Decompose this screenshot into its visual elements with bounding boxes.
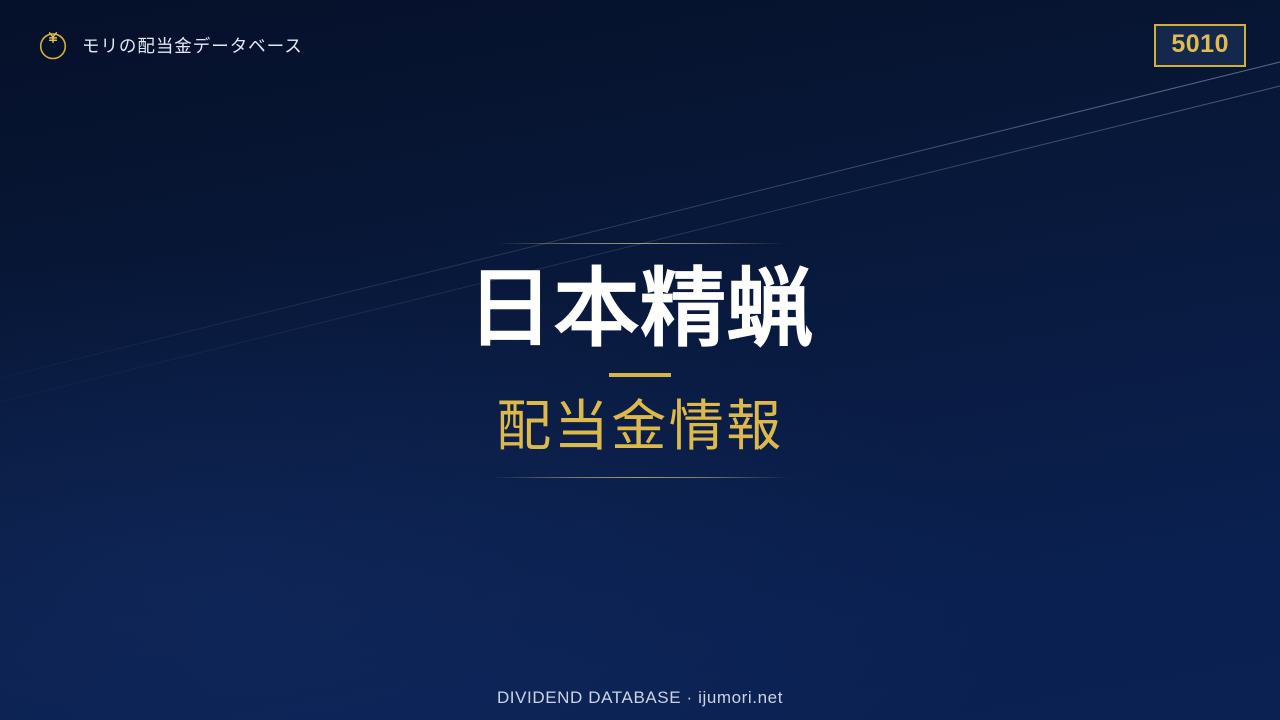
hero-block: 日本精蝋 配当金情報 xyxy=(0,243,1280,478)
brand-name-label: モリの配当金データベース xyxy=(82,33,303,58)
footer-text: DIVIDEND DATABASE · ijumori.net xyxy=(497,688,783,707)
yen-circle-icon xyxy=(38,30,68,60)
gold-dash-divider xyxy=(609,373,671,377)
hero-top-divider xyxy=(496,243,784,244)
page-footer: DIVIDEND DATABASE · ijumori.net xyxy=(0,688,1280,708)
ticker-code-badge: 5010 xyxy=(1154,24,1246,67)
title-card-slide: モリの配当金データベース 5010 日本精蝋 配当金情報 DIVIDEND DA… xyxy=(0,0,1280,720)
company-name-title: 日本精蝋 xyxy=(467,266,813,354)
section-label: 配当金情報 xyxy=(496,398,783,456)
hero-bottom-divider xyxy=(490,477,790,478)
brand[interactable]: モリの配当金データベース xyxy=(38,30,303,60)
page-header: モリの配当金データベース 5010 xyxy=(0,0,1280,90)
